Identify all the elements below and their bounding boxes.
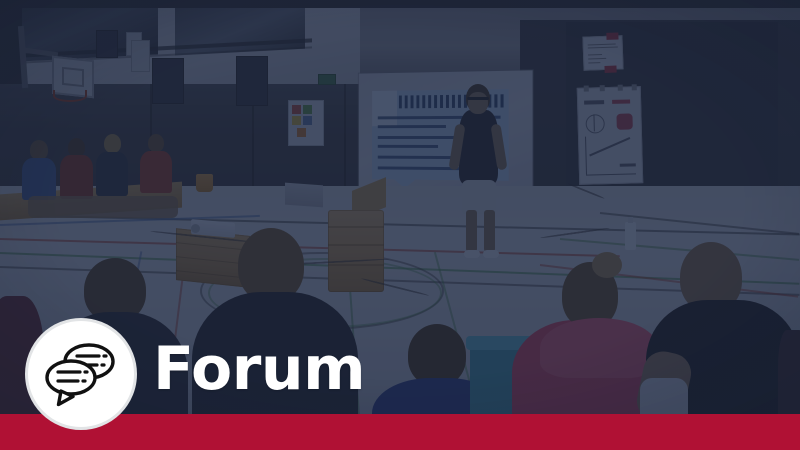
brand-accent-bar — [0, 414, 800, 450]
forum-banner: Forum — [0, 0, 800, 450]
speech-bubbles-icon — [42, 339, 120, 409]
page-title: Forum — [153, 339, 365, 399]
forum-logo-badge — [25, 318, 137, 430]
